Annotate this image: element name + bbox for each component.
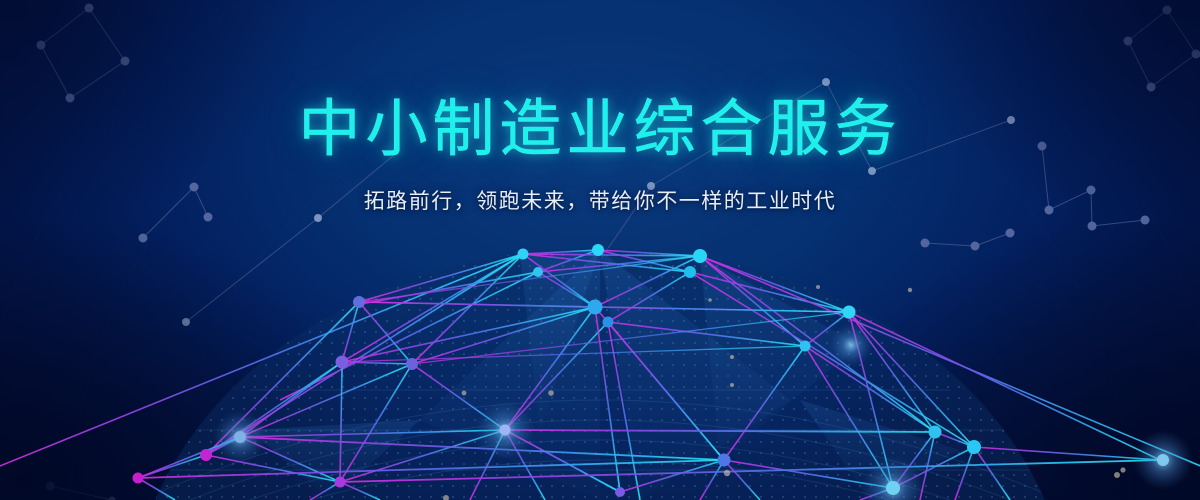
hero-text-block: 中小制造业综合服务 拓路前行，领跑未来，带给你不一样的工业时代 (0, 96, 1200, 215)
banner-hero: 中小制造业综合服务 拓路前行，领跑未来，带给你不一样的工业时代 (0, 0, 1200, 500)
page-title: 中小制造业综合服务 (0, 96, 1200, 163)
dome-network-graphic (0, 0, 1200, 500)
page-subtitle: 拓路前行，领跑未来，带给你不一样的工业时代 (0, 185, 1200, 215)
